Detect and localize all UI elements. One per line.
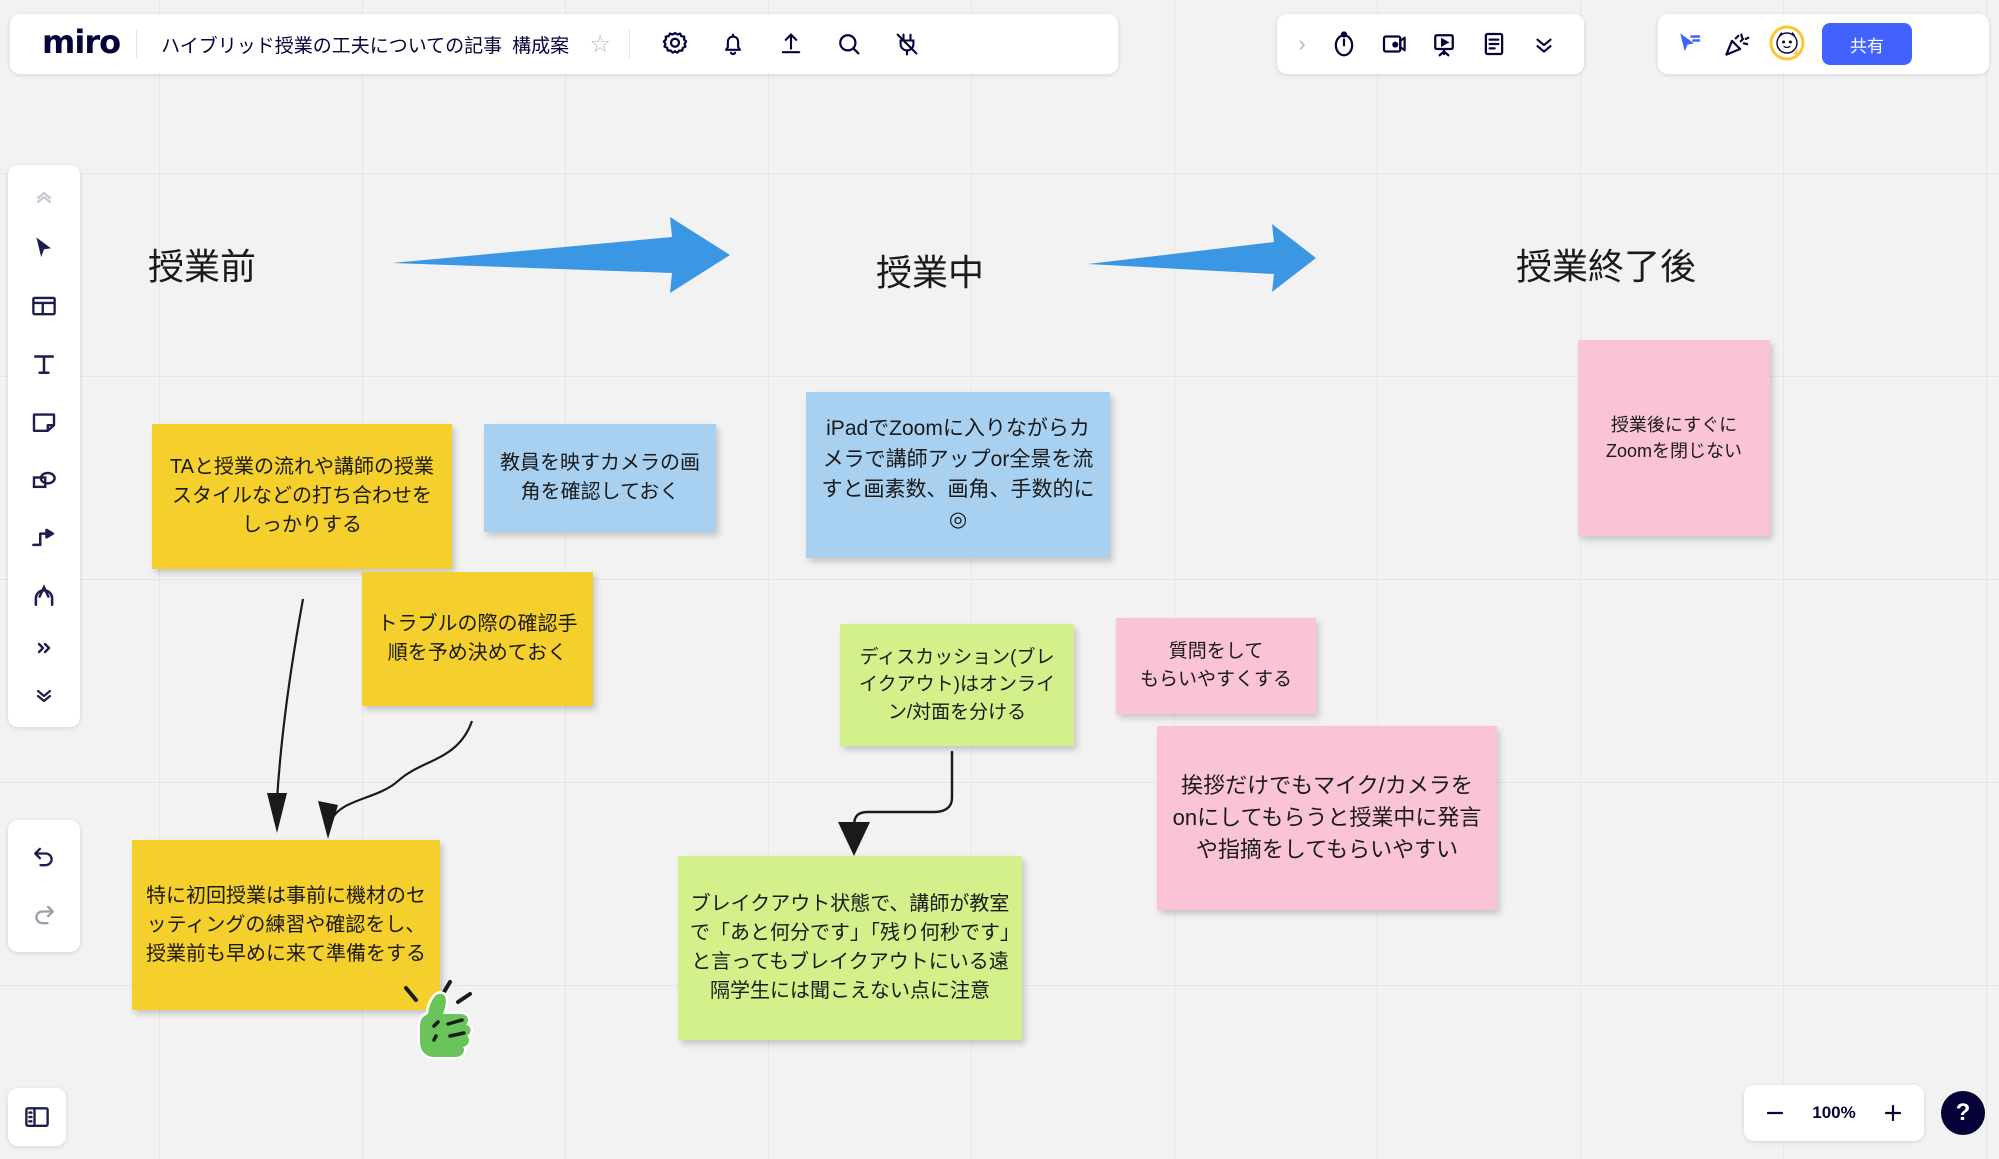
sticky-note-breakout-audio[interactable]: ブレイクアウト状態で、講師が教室で「あと何分です」「残り何秒です」と言ってもブレ… [678, 856, 1022, 1040]
sticky-note-ipad-zoom[interactable]: iPadでZoomに入りながらカメラで講師アップor全景を流すと画素数、画角、手… [806, 392, 1110, 558]
connector-discussion-to-breakout[interactable] [830, 750, 960, 860]
miro-logo[interactable]: miro [24, 26, 136, 62]
thumbs-up-sticker[interactable] [400, 978, 482, 1070]
timer-icon[interactable] [1323, 23, 1365, 65]
creation-toolbar [8, 165, 80, 727]
sticky-note-mic-camera-on[interactable]: 挨拶だけでもマイク/カメラをonにしてもらうと授業中に発言や指摘をしてもらいやす… [1157, 726, 1497, 910]
zoom-level-label[interactable]: 100% [1802, 1103, 1866, 1123]
sticky-note-camera-angle[interactable]: 教員を映すカメラの画角を確認しておく [484, 424, 716, 532]
settings-gear-icon[interactable] [652, 21, 698, 67]
board-header-bar: miro ハイブリッド授業の工夫についての記事 構成案 ☆ [10, 14, 1118, 74]
phase-label-during[interactable]: 授業中 [876, 244, 984, 296]
zoom-toolbar: 100% [1744, 1085, 1924, 1141]
board-panel-toggle-icon[interactable] [8, 1088, 66, 1146]
celebration-icon[interactable] [1716, 23, 1758, 65]
expand-chevron-down-icon[interactable] [16, 671, 72, 717]
miro-board-app: 授業前 授業中 授業終了後 TAと授業の流れや講師の授業スタイルなどの打ち合わせ… [0, 0, 1999, 1159]
board-canvas[interactable]: 授業前 授業中 授業終了後 TAと授業の流れや講師の授業スタイルなどの打ち合わせ… [0, 0, 1999, 1159]
search-icon[interactable] [826, 21, 872, 67]
notifications-bell-icon[interactable] [710, 21, 756, 67]
redo-icon[interactable] [16, 886, 72, 944]
expand-apps-chevron-icon[interactable]: › [1289, 23, 1315, 65]
board-subtitle[interactable]: 構成案 [512, 31, 577, 58]
share-button[interactable]: 共有 [1822, 23, 1912, 65]
sticky-note-trouble-procedure[interactable]: トラブルの際の確認手順を予め決めておく [362, 572, 593, 706]
sticky-note-easy-questions[interactable]: 質問をして もらいやすくする [1116, 618, 1316, 714]
video-chat-icon[interactable] [1373, 23, 1415, 65]
collapse-chevron-up-icon[interactable] [16, 175, 72, 219]
notes-icon[interactable] [1473, 23, 1515, 65]
templates-icon[interactable] [16, 277, 72, 335]
collaboration-toolbar: 共有 [1658, 14, 1989, 74]
presentation-icon[interactable] [1423, 23, 1465, 65]
sticky-note-ta-meeting[interactable]: TAと授業の流れや講師の授業スタイルなどの打ち合わせをしっかりする [152, 424, 452, 569]
phase-label-after[interactable]: 授業終了後 [1516, 238, 1696, 290]
sticky-note-icon[interactable] [16, 393, 72, 451]
phase-label-before[interactable]: 授業前 [148, 238, 256, 290]
integrations-icon[interactable] [884, 21, 930, 67]
more-apps-icon[interactable] [1523, 23, 1565, 65]
undo-icon[interactable] [16, 828, 72, 886]
star-icon[interactable]: ☆ [577, 21, 623, 67]
connector-arrow-icon[interactable] [16, 509, 72, 567]
phase-arrow-1[interactable] [392, 215, 732, 295]
sticky-note-first-class-prep[interactable]: 特に初回授業は事前に機材のセッティングの練習や確認をし、授業前も早めに来て準備を… [132, 840, 440, 1010]
upload-export-icon[interactable] [768, 21, 814, 67]
history-toolbar [8, 820, 80, 952]
cursor-follow-icon[interactable] [1668, 23, 1710, 65]
board-title[interactable]: ハイブリッド授業の工夫についての記事 [137, 31, 512, 58]
sticky-note-discussion-breakout[interactable]: ディスカッション(ブレイクアウト)はオンライン/対面を分ける [840, 624, 1074, 746]
more-tools-icon[interactable] [16, 625, 72, 671]
phase-arrow-2[interactable] [1088, 222, 1318, 294]
help-button[interactable]: ? [1941, 1091, 1985, 1135]
apps-toolbar: › [1277, 14, 1584, 74]
avatar[interactable] [1764, 21, 1810, 67]
header-divider-2 [629, 30, 630, 58]
text-icon[interactable] [16, 335, 72, 393]
connector-trouble-to-prep[interactable] [300, 715, 480, 845]
pen-icon[interactable] [16, 567, 72, 625]
zoom-out-button[interactable] [1752, 1090, 1798, 1136]
select-cursor-icon[interactable] [16, 219, 72, 277]
sticky-note-dont-close-zoom[interactable]: 授業後にすぐに Zoomを閉じない [1578, 340, 1770, 536]
zoom-in-button[interactable] [1870, 1090, 1916, 1136]
shapes-icon[interactable] [16, 451, 72, 509]
